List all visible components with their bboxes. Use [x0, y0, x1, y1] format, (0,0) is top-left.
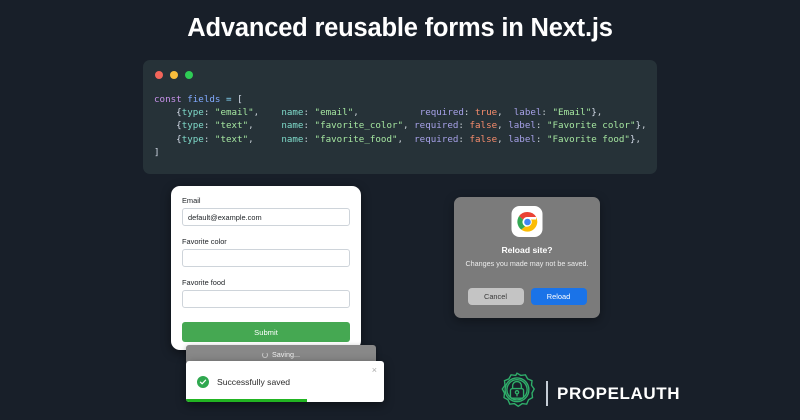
spinner-icon: [262, 352, 268, 358]
toast-message: Successfully saved: [217, 377, 290, 387]
email-field[interactable]: [182, 208, 350, 226]
favorite-food-field-label: Favorite food: [182, 278, 350, 287]
propelauth-logo: PROPELAUTH: [497, 371, 680, 416]
favorite-color-field[interactable]: [182, 249, 350, 267]
code-value-required: true: [475, 107, 497, 118]
slide-canvas: Advanced reusable forms in Next.js const…: [0, 0, 800, 420]
window-maximize-dot[interactable]: [185, 71, 193, 79]
code-value-required: false: [469, 120, 497, 131]
check-circle-icon: [197, 376, 209, 388]
code-key-type: type: [182, 134, 204, 145]
code-key-type: type: [182, 107, 204, 118]
cancel-button[interactable]: Cancel: [468, 288, 524, 305]
code-value-name: "email": [315, 107, 354, 118]
code-key-required: required: [414, 134, 458, 145]
email-field-label: Email: [182, 196, 350, 205]
logo-divider: [546, 381, 548, 406]
code-value-name: "favorite_color": [315, 120, 404, 131]
saving-status-label: Saving...: [272, 350, 300, 359]
signup-form-card: Email Favorite color Favorite food Submi…: [171, 186, 361, 350]
code-key-label: label: [508, 134, 536, 145]
code-value-label: "Email": [553, 107, 592, 118]
window-traffic-lights: [155, 71, 193, 79]
code-key-label: label: [508, 120, 536, 131]
code-keyword: const: [154, 94, 182, 105]
page-title: Advanced reusable forms in Next.js: [0, 14, 800, 43]
code-variable: fields: [187, 94, 220, 105]
chrome-icon: [512, 206, 543, 237]
code-value-required: false: [469, 134, 497, 145]
propelauth-lock-gear-icon: [497, 371, 537, 416]
dialog-message: Changes you made may not be saved.: [454, 259, 600, 268]
code-key-name: name: [281, 107, 303, 118]
code-key-required: required: [414, 120, 458, 131]
reload-button[interactable]: Reload: [531, 288, 587, 305]
code-key-label: label: [514, 107, 542, 118]
code-close-bracket: ]: [154, 147, 160, 158]
code-open-bracket: [: [237, 94, 243, 105]
window-minimize-dot[interactable]: [170, 71, 178, 79]
toast-content: Successfully saved: [186, 361, 384, 402]
code-content: const fields = [ {type: "email", name: "…: [154, 93, 649, 159]
code-key-required: required: [420, 107, 464, 118]
code-value-name: "favorite_food": [315, 134, 398, 145]
close-icon[interactable]: ×: [372, 366, 377, 375]
code-assign-operator: =: [226, 94, 232, 105]
code-key-type: type: [182, 120, 204, 131]
code-value-type: "email": [215, 107, 254, 118]
code-block-panel: const fields = [ {type: "email", name: "…: [143, 60, 657, 174]
code-value-type: "text": [215, 120, 248, 131]
dialog-title: Reload site?: [454, 245, 600, 255]
code-key-name: name: [281, 120, 303, 131]
chrome-reload-dialog: Reload site? Changes you made may not be…: [454, 197, 600, 318]
code-value-label: "Favorite color": [547, 120, 636, 131]
toast-progress-bar: [186, 399, 307, 402]
success-toast[interactable]: Successfully saved ×: [186, 361, 384, 402]
favorite-color-field-label: Favorite color: [182, 237, 350, 246]
dialog-actions: Cancel Reload: [454, 288, 600, 305]
window-close-dot[interactable]: [155, 71, 163, 79]
submit-button[interactable]: Submit: [182, 322, 350, 342]
code-value-label: "Favorite food": [547, 134, 630, 145]
code-key-name: name: [281, 134, 303, 145]
code-value-type: "text": [215, 134, 248, 145]
favorite-food-field[interactable]: [182, 290, 350, 308]
logo-wordmark: PROPELAUTH: [557, 384, 680, 404]
